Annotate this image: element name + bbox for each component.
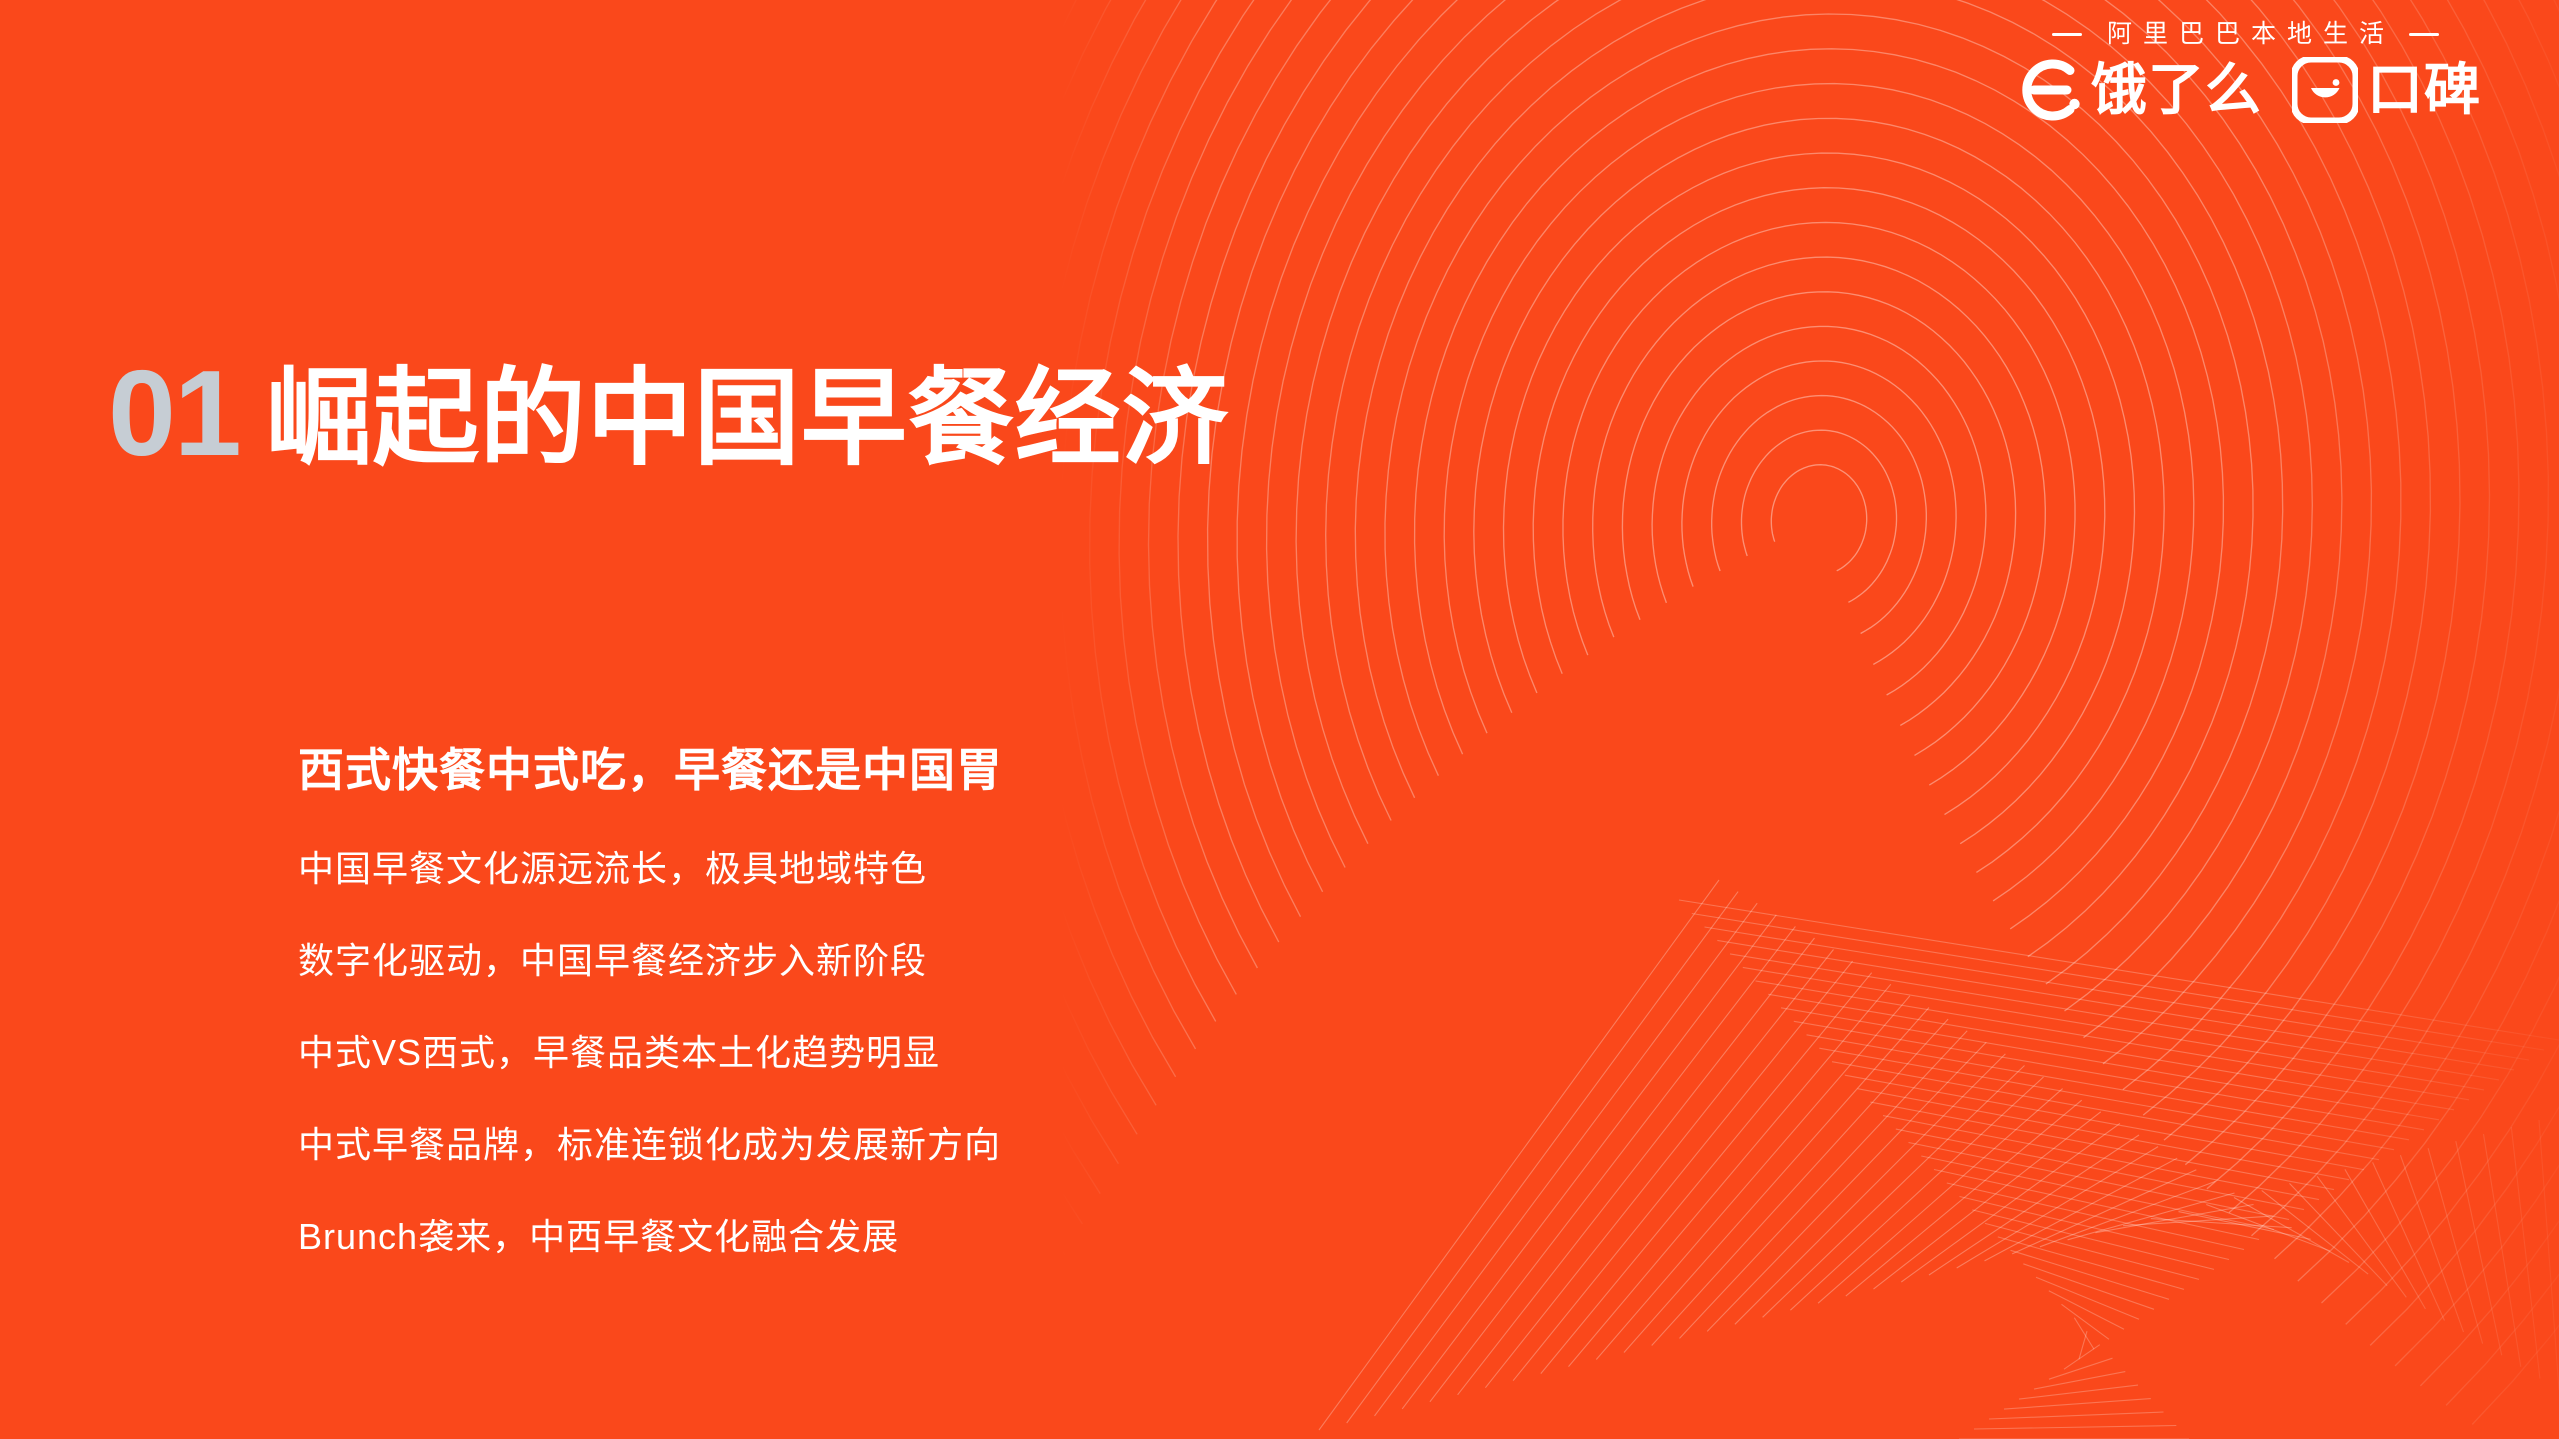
list-item: 数字化驱动，中国早餐经济步入新阶段: [298, 933, 1003, 989]
section-heading: 01 崛起的中国早餐经济: [108, 352, 1229, 474]
content-subtitle: 西式快餐中式吃，早餐还是中国胃: [298, 742, 1003, 800]
koubei-smile-icon: [2292, 57, 2358, 123]
eleme-e-icon: [2010, 57, 2082, 123]
brand-lockup: 阿里巴巴本地生活 饿了么 口碑: [2010, 22, 2481, 123]
list-item: Brunch袭来，中西早餐文化融合发展: [298, 1209, 1003, 1265]
brand-logo-row: 饿了么 口碑: [2010, 57, 2481, 123]
brand-tagline: 阿里巴巴本地生活: [2052, 22, 2439, 47]
list-item: 中国早餐文化源远流长，极具地域特色: [298, 841, 1003, 897]
eleme-logo: 饿了么: [2010, 57, 2262, 123]
brand-tagline-text: 阿里巴巴本地生活: [2096, 22, 2395, 47]
koubei-logo: 口碑: [2292, 57, 2481, 123]
horizontal-rule-icon: [2052, 33, 2082, 36]
koubei-wordmark: 口碑: [2367, 62, 2481, 118]
decorative-line-pattern: [1059, 0, 2559, 1439]
list-item: 中式早餐品牌，标准连锁化成为发展新方向: [298, 1117, 1003, 1173]
eleme-wordmark: 饿了么: [2091, 62, 2262, 118]
page-title: 崛起的中国早餐经济: [266, 366, 1229, 472]
horizontal-rule-icon: [2409, 33, 2439, 36]
section-number: 01: [108, 352, 240, 474]
slide-canvas: 阿里巴巴本地生活 饿了么 口碑: [0, 0, 2559, 1439]
content-block: 西式快餐中式吃，早餐还是中国胃 中国早餐文化源远流长，极具地域特色 数字化驱动，…: [298, 742, 1003, 1265]
list-item: 中式VS西式，早餐品类本土化趋势明显: [298, 1025, 1003, 1081]
